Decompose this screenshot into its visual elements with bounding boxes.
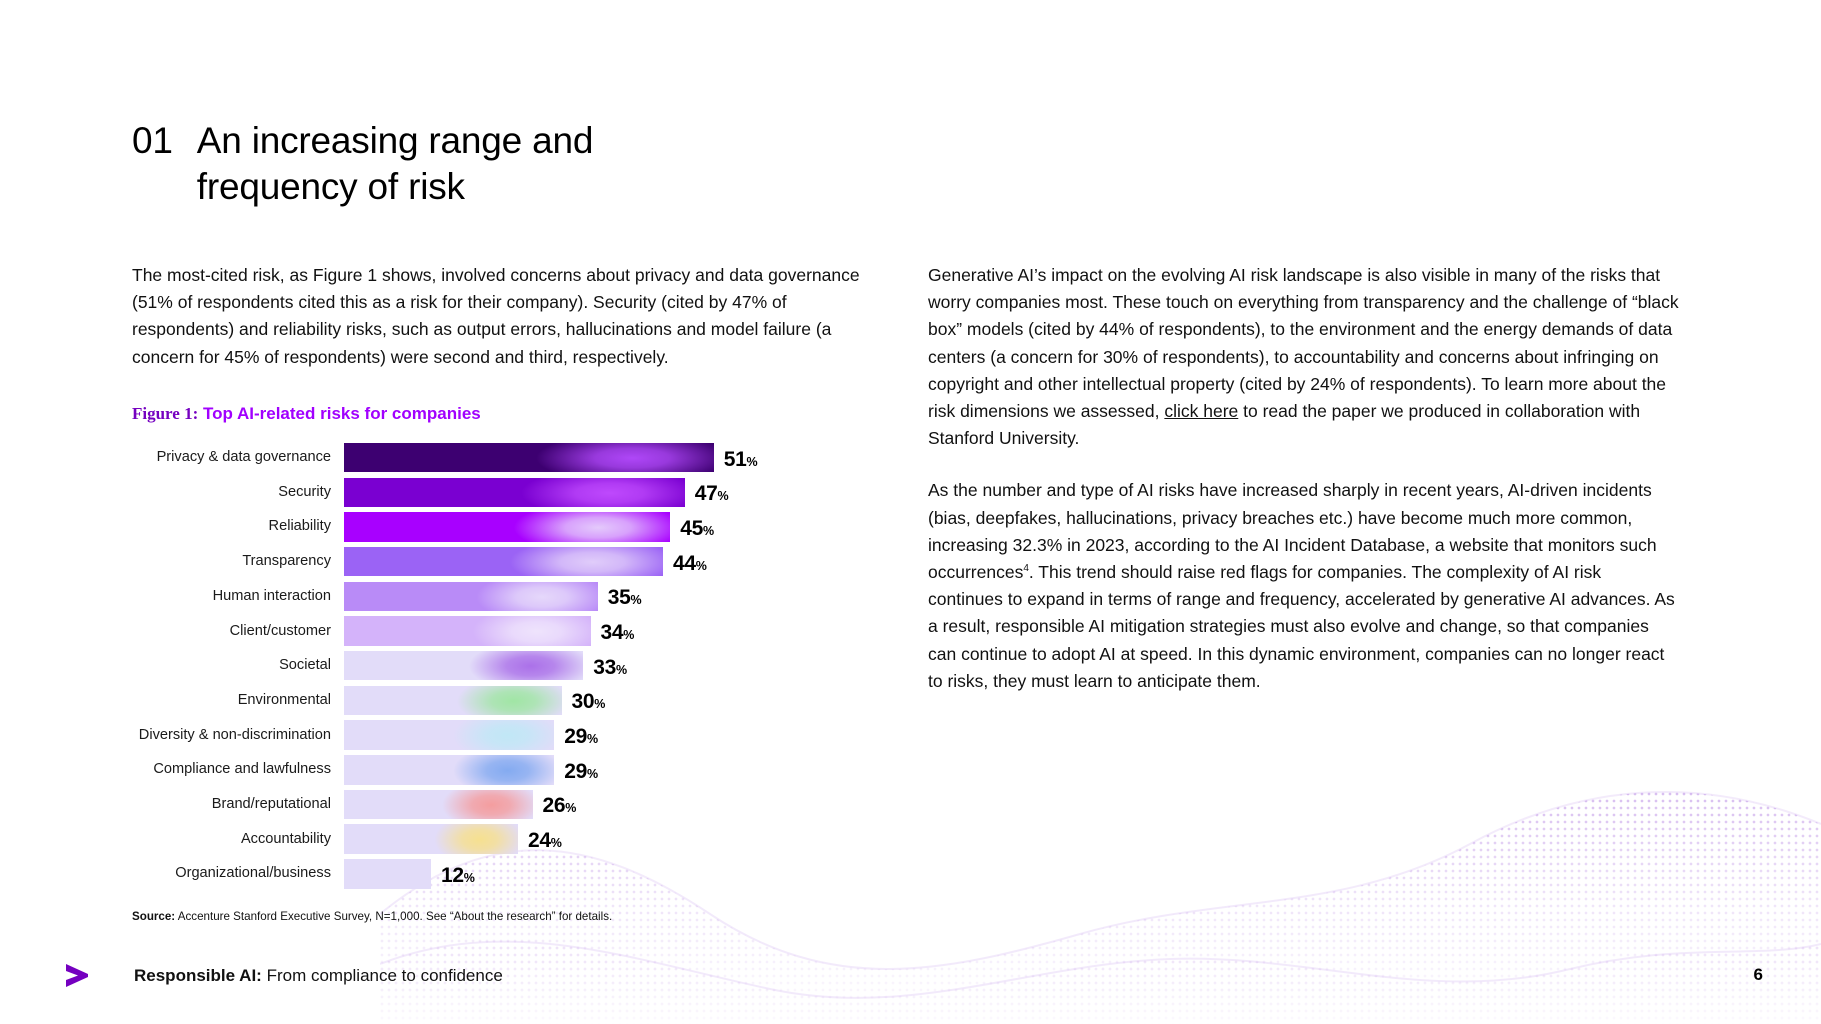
chart-value-suffix: %: [587, 732, 598, 746]
chart-row: Human interaction35%: [132, 582, 872, 612]
chart-bar-accent: [423, 790, 532, 820]
chart-category-label: Security: [132, 484, 344, 501]
chart-row: Compliance and lawfulness29%: [132, 755, 872, 785]
chart-category-label: Brand/reputational: [132, 796, 344, 813]
left-column: The most-cited risk, as Figure 1 shows, …: [132, 262, 872, 924]
chart-category-label: Societal: [132, 657, 344, 674]
chart-bar: [344, 547, 663, 577]
figure-label: Figure 1:: [132, 404, 198, 423]
chart-bar-accent: [448, 616, 591, 646]
chart-value-number: 44: [673, 552, 696, 575]
chart-value-label: 47%: [695, 482, 729, 506]
bar-chart: Privacy & data governance51%Security47%R…: [132, 443, 872, 889]
chart-category-label: Diversity & non-discrimination: [132, 727, 344, 744]
chart-bar-track: 26%: [344, 790, 872, 820]
footer-brand-rest: From compliance to confidence: [262, 966, 503, 985]
chart-bar-track: 34%: [344, 616, 872, 646]
chart-value-label: 35%: [608, 586, 642, 610]
right-column: Generative AI’s impact on the evolving A…: [928, 262, 1680, 695]
right-paragraph-1-text-a: Generative AI’s impact on the evolving A…: [928, 265, 1679, 421]
chart-bar-accent: [432, 720, 554, 750]
chart-bar-accent: [487, 478, 685, 508]
chart-bar-track: 33%: [344, 651, 872, 681]
chart-value-number: 45: [680, 517, 703, 540]
chart-category-label: Transparency: [132, 553, 344, 570]
chart-value-label: 33%: [593, 656, 627, 680]
chart-category-label: Organizational/business: [132, 865, 344, 882]
chart-bar: [344, 478, 685, 508]
source-text: Accenture Stanford Executive Survey, N=1…: [175, 910, 612, 923]
chart-row: Societal33%: [132, 651, 872, 681]
page-title: 01 An increasing range and frequency of …: [132, 118, 667, 210]
chart-value-label: 29%: [564, 725, 598, 749]
page-number: 6: [1754, 965, 1763, 985]
chart-row: Environmental30%: [132, 686, 872, 716]
accenture-caret-icon: [62, 960, 92, 990]
chart-bar: [344, 859, 431, 889]
chart-value-suffix: %: [747, 454, 758, 468]
chart-value-label: 12%: [441, 864, 475, 888]
chart-bar: [344, 512, 670, 542]
chart-row: Diversity & non-discrimination29%: [132, 720, 872, 750]
right-paragraph-2: As the number and type of AI risks have …: [928, 477, 1680, 695]
page-footer: Responsible AI: From compliance to confi…: [0, 938, 1821, 1024]
chart-category-label: Environmental: [132, 692, 344, 709]
chart-value-suffix: %: [718, 489, 729, 503]
chart-bar-accent: [417, 824, 518, 854]
chart-bar: [344, 790, 533, 820]
chart-bar-track: 29%: [344, 720, 872, 750]
chart-value-number: 35: [608, 586, 631, 609]
chart-row: Client/customer34%: [132, 616, 872, 646]
chart-bar-track: 29%: [344, 755, 872, 785]
chart-row: Privacy & data governance51%: [132, 443, 872, 473]
chart-value-suffix: %: [623, 628, 634, 642]
chart-bar-accent: [435, 686, 561, 716]
chart-bar: [344, 686, 562, 716]
chart-value-suffix: %: [594, 697, 605, 711]
chart-value-suffix: %: [551, 836, 562, 850]
chart-bar-track: 47%: [344, 478, 872, 508]
chart-value-label: 44%: [673, 552, 707, 576]
chart-bar: [344, 582, 598, 612]
chart-bar: [344, 720, 554, 750]
chart-value-suffix: %: [587, 767, 598, 781]
chart-value-number: 33: [593, 656, 616, 679]
chart-row: Organizational/business12%: [132, 859, 872, 889]
chart-category-label: Privacy & data governance: [132, 449, 344, 466]
figure-source: Source: Accenture Stanford Executive Sur…: [132, 909, 872, 924]
source-label: Source:: [132, 910, 175, 923]
figure-caption: Figure 1: Top AI-related risks for compa…: [132, 403, 872, 425]
chart-value-number: 29: [564, 725, 587, 748]
chart-bar-track: 12%: [344, 859, 872, 889]
chart-bar-track: 35%: [344, 582, 872, 612]
chart-value-label: 30%: [572, 690, 606, 714]
chart-bar-accent: [445, 651, 584, 681]
chart-category-label: Client/customer: [132, 623, 344, 640]
chart-value-suffix: %: [616, 663, 627, 677]
chart-bar: [344, 651, 583, 681]
chart-value-label: 45%: [680, 517, 714, 541]
section-number: 01: [132, 118, 173, 164]
chart-row: Security47%: [132, 478, 872, 508]
left-paragraph-1: The most-cited risk, as Figure 1 shows, …: [132, 262, 872, 371]
chart-value-number: 51: [724, 447, 747, 470]
footer-brand-bold: Responsible AI:: [134, 966, 262, 985]
chart-bar-accent: [499, 443, 713, 473]
chart-value-label: 51%: [724, 447, 758, 471]
chart-category-label: Accountability: [132, 831, 344, 848]
chart-value-label: 34%: [601, 621, 635, 645]
chart-value-label: 29%: [564, 760, 598, 784]
chart-bar-accent: [481, 512, 670, 542]
chart-row: Reliability45%: [132, 512, 872, 542]
chart-value-number: 12: [441, 864, 464, 887]
chart-row: Brand/reputational26%: [132, 790, 872, 820]
right-paragraph-1: Generative AI’s impact on the evolving A…: [928, 262, 1680, 452]
section-title: An increasing range and frequency of ris…: [197, 118, 667, 210]
chart-value-suffix: %: [703, 524, 714, 538]
chart-bar-accent: [432, 755, 554, 785]
chart-value-number: 26: [543, 794, 566, 817]
right-paragraph-2-text-b: . This trend should raise red flags for …: [928, 562, 1675, 691]
chart-bar: [344, 616, 591, 646]
chart-value-number: 24: [528, 829, 551, 852]
click-here-link[interactable]: click here: [1164, 401, 1238, 421]
chart-bar-accent: [478, 547, 663, 577]
chart-value-number: 30: [572, 690, 595, 713]
chart-bar-track: 51%: [344, 443, 872, 473]
chart-bar-track: 44%: [344, 547, 872, 577]
chart-value-number: 29: [564, 760, 587, 783]
chart-bar-track: 30%: [344, 686, 872, 716]
chart-bar-track: 24%: [344, 824, 872, 854]
footer-brand: Responsible AI: From compliance to confi…: [134, 965, 503, 987]
chart-bar-accent: [451, 582, 598, 612]
report-page: 01 An increasing range and frequency of …: [0, 0, 1821, 1024]
chart-bar: [344, 443, 714, 473]
chart-category-label: Human interaction: [132, 588, 344, 605]
chart-bar: [344, 824, 518, 854]
chart-value-suffix: %: [464, 871, 475, 885]
chart-bar-track: 45%: [344, 512, 872, 542]
chart-value-label: 26%: [543, 794, 577, 818]
chart-bar: [344, 755, 554, 785]
chart-value-suffix: %: [696, 559, 707, 573]
chart-category-label: Compliance and lawfulness: [132, 761, 344, 778]
chart-value-suffix: %: [631, 593, 642, 607]
chart-value-suffix: %: [565, 801, 576, 815]
chart-row: Transparency44%: [132, 547, 872, 577]
chart-value-label: 24%: [528, 829, 562, 853]
chart-row: Accountability24%: [132, 824, 872, 854]
chart-value-number: 34: [601, 621, 624, 644]
figure-name: Top AI-related risks for companies: [198, 404, 480, 423]
chart-category-label: Reliability: [132, 518, 344, 535]
chart-value-number: 47: [695, 482, 718, 505]
